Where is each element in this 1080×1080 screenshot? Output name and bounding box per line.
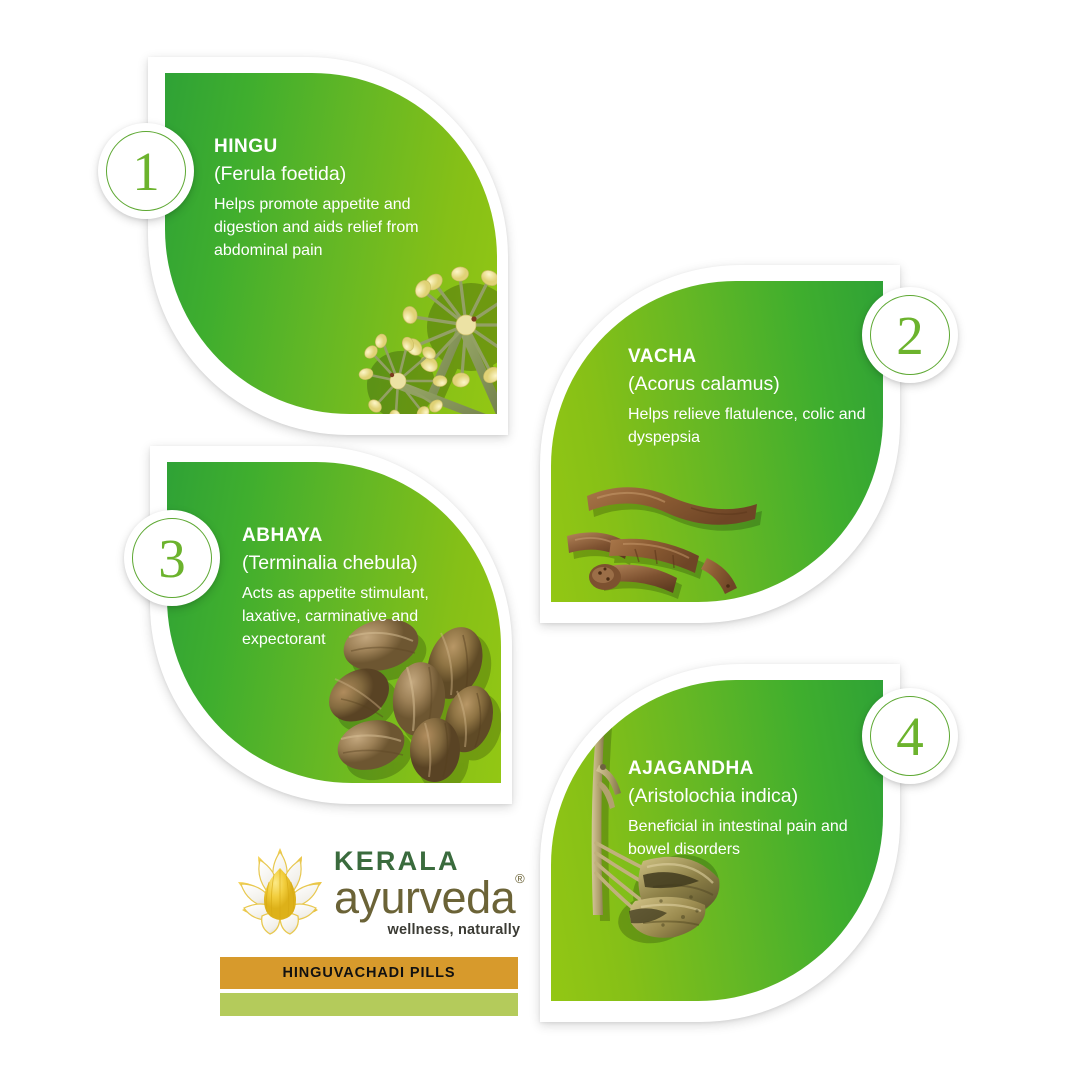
ingredient-card-4: AJAGANDHA (Aristolochia indica) Benefici… xyxy=(540,664,900,1022)
card-4-badge-number: 4 xyxy=(896,709,924,764)
product-name-label: HINGUVACHADI PILLS xyxy=(282,965,455,981)
card-1-text-block: HINGU (Ferula foetida) Helps promote app… xyxy=(214,135,476,263)
card-3-number-badge[interactable]: 3 xyxy=(124,510,220,606)
card-4-description: Beneficial in intestinal pain and bowel … xyxy=(628,815,882,862)
ingredient-card-3: ABHAYA (Terminalia chebula) Acts as appe… xyxy=(150,446,512,804)
card-4-herb-name: AJAGANDHA xyxy=(628,757,882,782)
card-1-badge-number: 1 xyxy=(132,144,160,199)
brand-logo-block: KERALA ayurveda® wellness, naturally HIN… xyxy=(220,840,518,1016)
brand-name-ayurveda: ayurveda® xyxy=(334,875,524,921)
card-4-text-block: AJAGANDHA (Aristolochia indica) Benefici… xyxy=(628,757,882,861)
card-4-number-badge[interactable]: 4 xyxy=(862,688,958,784)
card-1-description: Helps promote appetite and digestion and… xyxy=(214,193,476,263)
card-1-herb-name: HINGU xyxy=(214,135,476,160)
infographic-canvas: HINGU (Ferula foetida) Helps promote app… xyxy=(0,0,1080,1080)
card-3-scientific-name: (Terminalia chebula) xyxy=(242,550,490,577)
card-3-description: Acts as appetite stimulant, laxative, ca… xyxy=(242,582,490,652)
card-4-scientific-name: (Aristolochia indica) xyxy=(628,783,882,810)
ingredient-card-1: HINGU (Ferula foetida) Helps promote app… xyxy=(148,57,508,435)
card-2-text-block: VACHA (Acorus calamus) Helps relieve fla… xyxy=(628,345,878,449)
card-3-herb-name: ABHAYA xyxy=(242,524,490,549)
banner-accent-bar xyxy=(220,993,518,1016)
card-1-scientific-name: (Ferula foetida) xyxy=(214,161,476,188)
card-2-number-badge[interactable]: 2 xyxy=(862,287,958,383)
lotus-flower-logo xyxy=(232,840,328,940)
registered-trademark-icon: ® xyxy=(515,871,524,886)
brand-name-kerala: KERALA xyxy=(334,848,524,875)
acorus-calamus-rhizome-image xyxy=(561,476,776,601)
card-2-herb-name: VACHA xyxy=(628,345,878,370)
card-2-description: Helps relieve flatulence, colic and dysp… xyxy=(628,403,878,450)
brand-wordmark: KERALA ayurveda® wellness, naturally xyxy=(334,842,524,939)
product-name-banner: HINGUVACHADI PILLS xyxy=(220,957,518,989)
logo-lockup: KERALA ayurveda® wellness, naturally xyxy=(220,840,518,940)
card-2-scientific-name: (Acorus calamus) xyxy=(628,371,878,398)
card-3-badge-number: 3 xyxy=(158,531,186,586)
ingredient-card-2: VACHA (Acorus calamus) Helps relieve fla… xyxy=(540,265,900,623)
card-3-text-block: ABHAYA (Terminalia chebula) Acts as appe… xyxy=(242,524,490,652)
ferula-flower-umbel-image xyxy=(340,263,497,414)
brand-tagline: wellness, naturally xyxy=(334,922,524,938)
brand-name-ayurveda-text: ayurveda xyxy=(334,872,515,923)
card-1-number-badge[interactable]: 1 xyxy=(98,123,194,219)
card-2-badge-number: 2 xyxy=(896,308,924,363)
